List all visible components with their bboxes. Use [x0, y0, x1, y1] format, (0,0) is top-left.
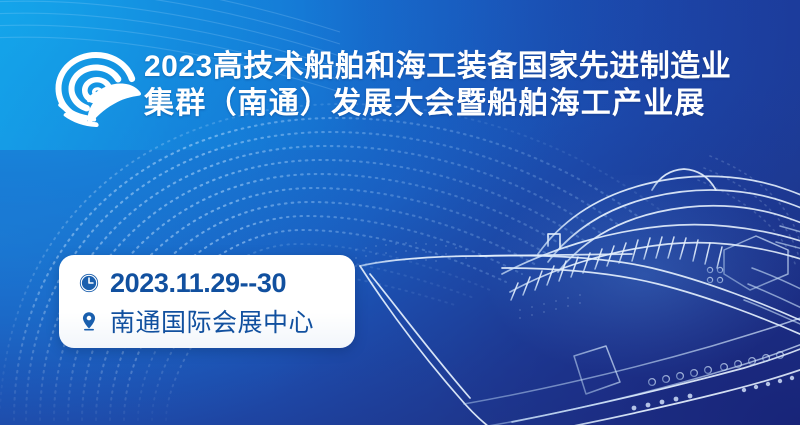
event-venue-row: 南通国际会展中心 [76, 302, 355, 340]
poster-title: 2023高技术船舶和海工装备国家先进制造业 集群（南通）发展大会暨船舶海工产业展 [144, 48, 768, 122]
poster-title-line-1: 2023高技术船舶和海工装备国家先进制造业 [144, 48, 768, 85]
event-poster: 2023高技术船舶和海工装备国家先进制造业 集群（南通）发展大会暨船舶海工产业展… [0, 0, 800, 425]
clock-icon [76, 270, 102, 296]
event-info-card: 2023.11.29--30 南通国际会展中心 [59, 255, 355, 348]
event-venue-value: 南通国际会展中心 [110, 303, 314, 339]
poster-title-line-2: 集群（南通）发展大会暨船舶海工产业展 [144, 85, 768, 122]
event-date-row: 2023.11.29--30 [76, 264, 355, 302]
location-pin-icon [76, 308, 102, 334]
event-date-value: 2023.11.29--30 [110, 268, 286, 299]
wave-spiral-logo [50, 47, 142, 129]
